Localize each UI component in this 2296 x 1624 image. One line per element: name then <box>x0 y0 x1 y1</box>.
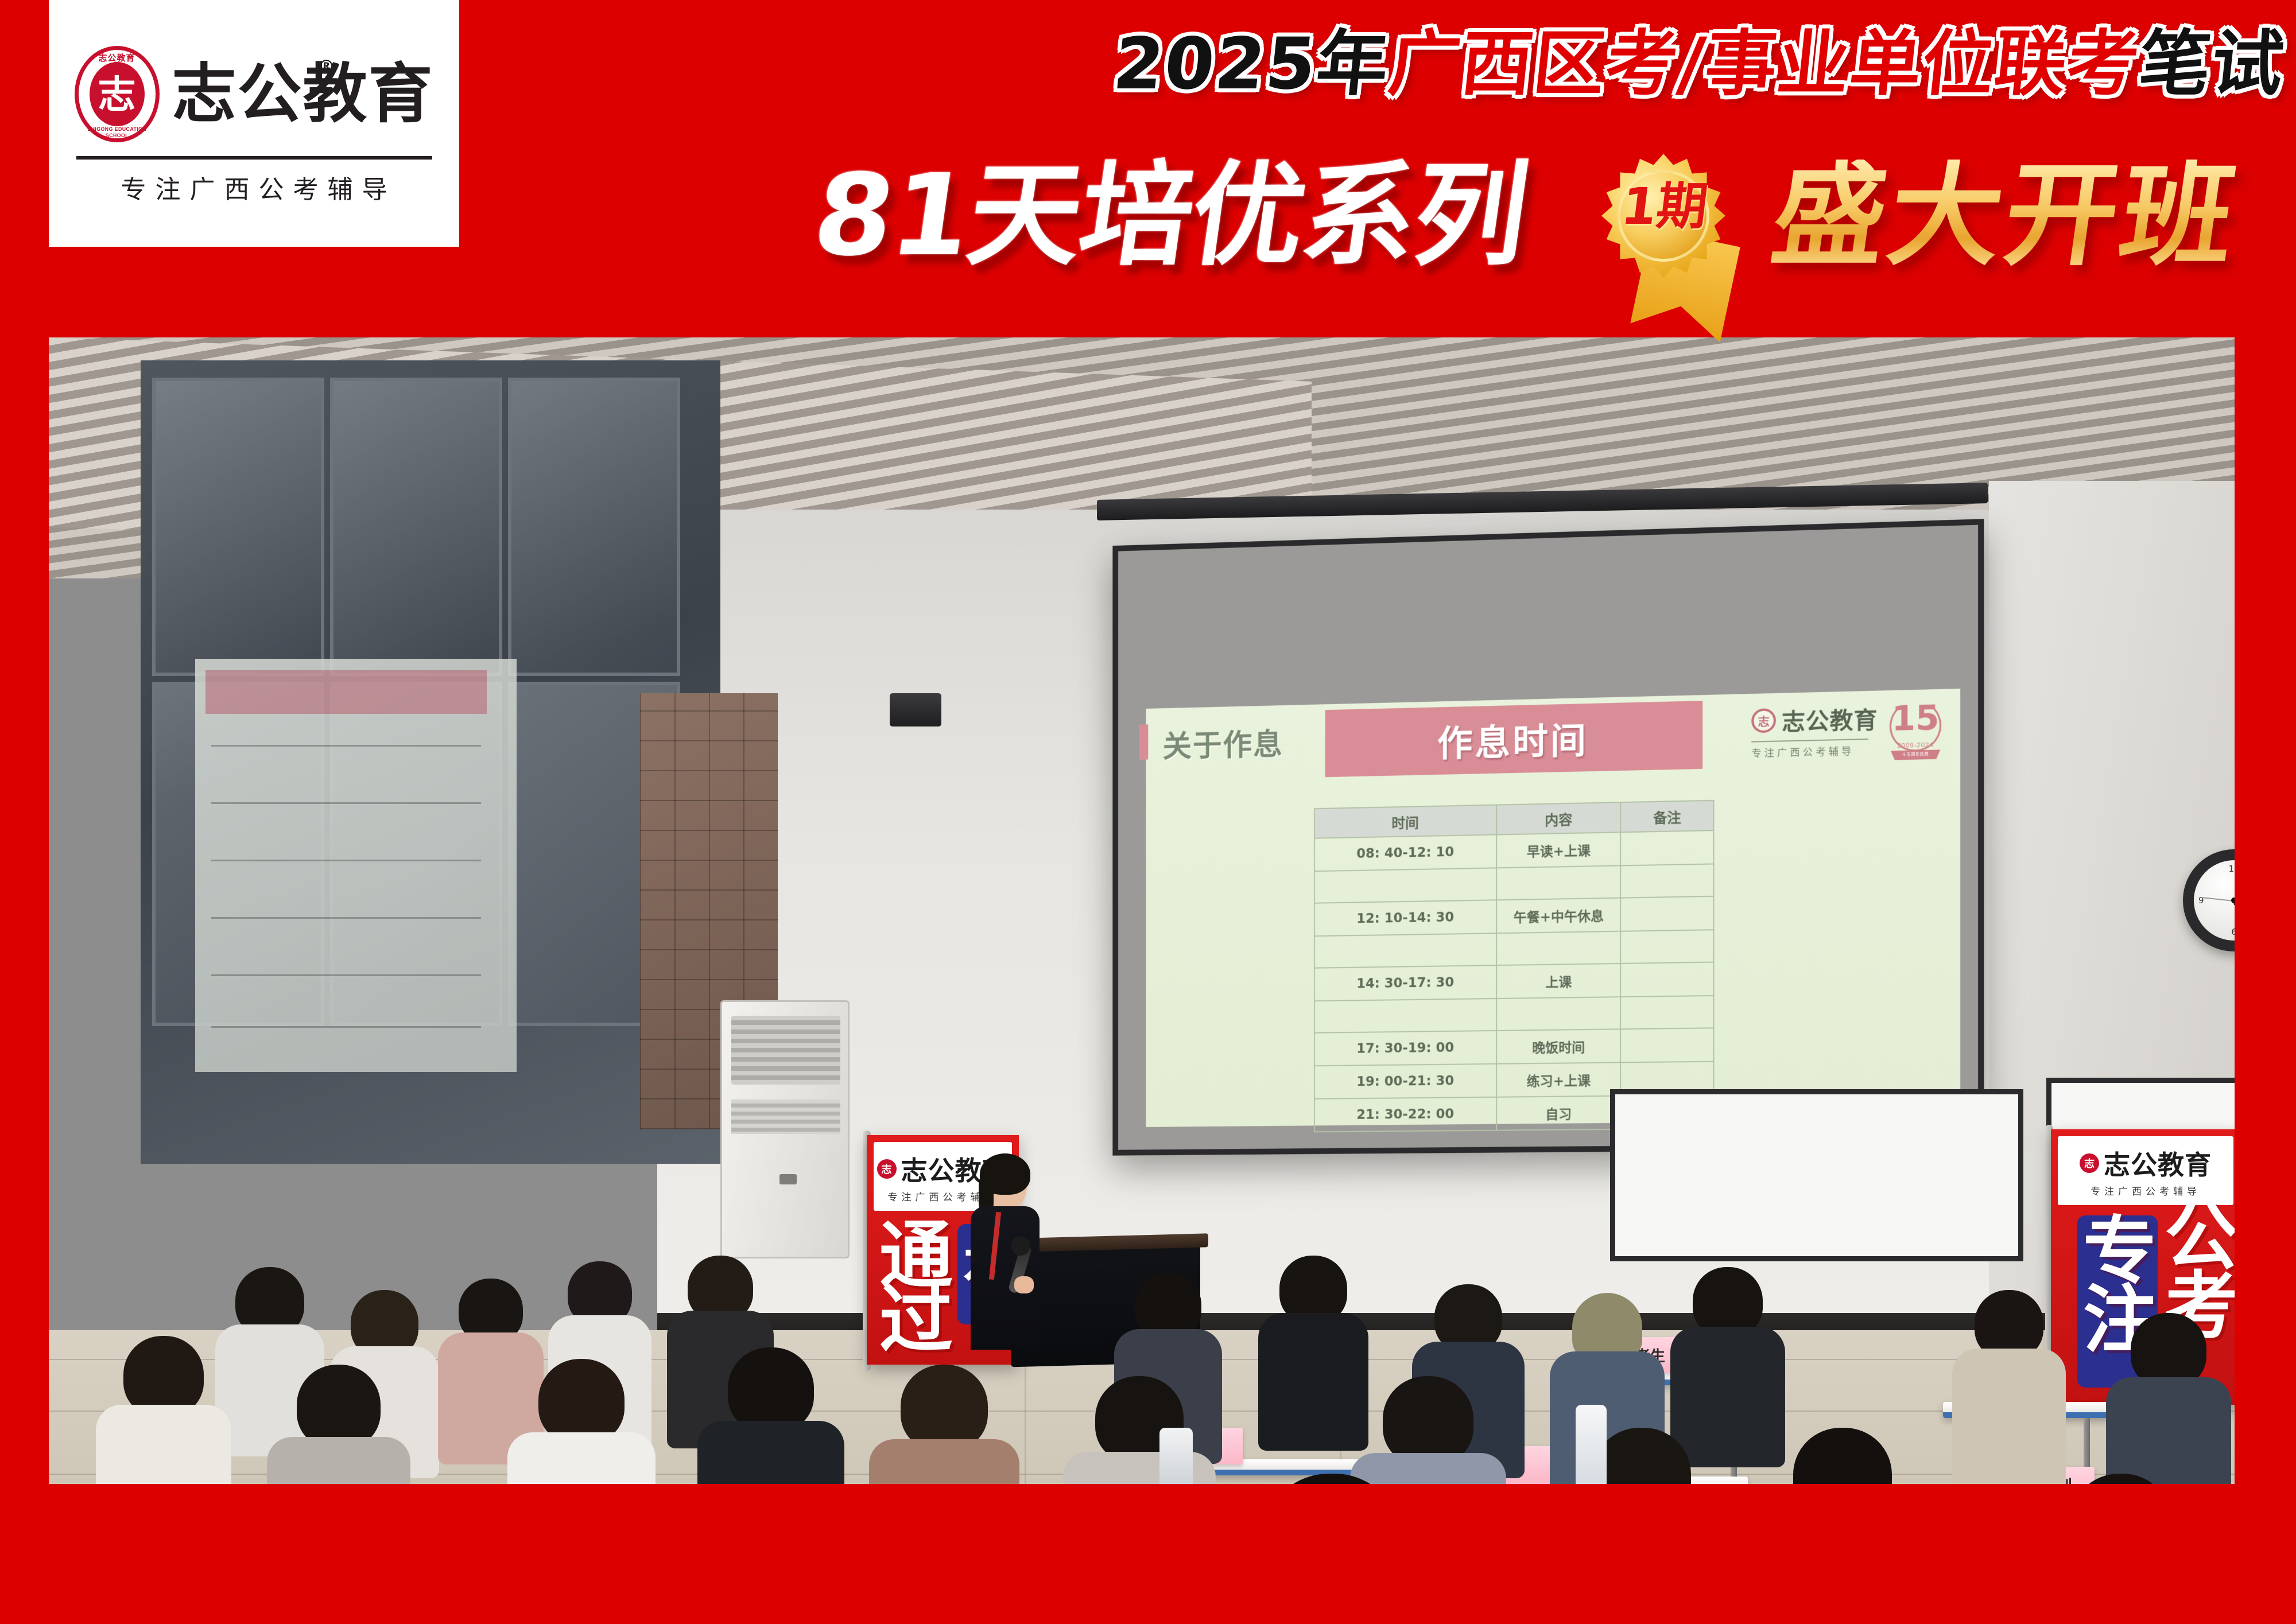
slide-logo-tagline: 专注广西公考辅导 <box>1751 743 1854 760</box>
logo-divider <box>76 156 432 160</box>
badge-label: 1期 <box>1610 181 1720 232</box>
headline-exam-name: 广西区考/事业单位联考 <box>1384 23 2143 106</box>
water-bottle <box>1576 1405 1607 1491</box>
cell-content: 自习 <box>1496 1096 1620 1130</box>
cell-time: 21: 30-22: 00 <box>1314 1097 1496 1132</box>
air-conditioner <box>720 1000 850 1258</box>
cell-content: 上课 <box>1496 963 1620 999</box>
cell-content: 练习+上课 <box>1496 1062 1620 1097</box>
banner-seal-icon: 志 <box>2080 1153 2099 1173</box>
glass-partition-wall <box>141 360 720 1164</box>
schedule-table: 时间 内容 备注 08: 40-12: 10 早读+上课 12: 10-14: … <box>1314 800 1714 1133</box>
cell-time: 12: 10-14: 30 <box>1314 900 1496 936</box>
col-header-time: 时间 <box>1314 805 1496 838</box>
photo-bottom-mask <box>49 1484 2235 1554</box>
logo-row: 志公教育 志 ZHIGONG EDUCATION SCHOOL 志公教育 ® <box>75 46 434 142</box>
registered-trademark-icon: ® <box>318 59 336 76</box>
instructor <box>966 1158 1041 1347</box>
headline-block: 2025年广西区考/事业单位联考笔试 <box>1108 26 2290 103</box>
banner-char-zhuan: 专 <box>2083 1217 2158 1287</box>
anniversary-ribbon-text: 十五周年庆典 <box>1891 749 1940 760</box>
slide-seal-icon: 志 <box>1751 708 1776 733</box>
anniversary-number: 15 <box>1887 701 1944 736</box>
banner-seal-icon: 志 <box>877 1159 897 1179</box>
cell-content: 午餐+中午休息 <box>1496 898 1620 934</box>
headline-year: 2025年 <box>1110 23 1393 106</box>
wall-speaker-icon <box>890 693 941 726</box>
slide-brand-logo: 志 志公教育 专注广西公考辅导 <box>1751 701 1878 760</box>
headline-course-name: 81天培优系列 <box>807 160 1534 272</box>
col-header-content: 内容 <box>1496 802 1620 834</box>
slide-title-banner: 作息时间 <box>1325 701 1703 777</box>
gold-rosette-badge-icon: 1期 <box>1590 150 1762 323</box>
cell-time: 17: 30-19: 00 <box>1314 1031 1496 1066</box>
projector-screen: 关于作息 作息时间 志 志公教育 专注广西公考辅导 15 2009-2024 十… <box>1112 519 1984 1155</box>
student <box>1960 1290 2058 1462</box>
table-spacer-row <box>1314 996 1713 1033</box>
logo-tagline: 专注广西公考辅导 <box>112 169 397 205</box>
cell-note <box>1621 830 1714 865</box>
slide-title-text: 作息时间 <box>1437 712 1588 767</box>
headline-line-1: 2025年广西区考/事业单位联考笔试 <box>1104 26 2294 103</box>
logo-wordmark-text: 志公教育 <box>172 57 434 131</box>
cell-content: 晚饭时间 <box>1496 1029 1620 1064</box>
cell-note <box>1621 896 1714 931</box>
student <box>1266 1256 1360 1428</box>
brand-logo-card: 志公教育 志 ZHIGONG EDUCATION SCHOOL 志公教育 ® 专… <box>49 0 459 247</box>
anniversary-years: 2009-2024 <box>1887 741 1944 749</box>
slide-accent-bar <box>1139 724 1149 759</box>
slide-kicker-text: 关于作息 <box>1163 720 1284 766</box>
headline-line-2: 81天培优系列 盛大开班 <box>804 154 2296 297</box>
anniversary-emblem-icon: 15 2009-2024 十五周年庆典 <box>1887 697 1944 763</box>
logo-wordmark: 志公教育 ® <box>172 62 434 126</box>
headline-opening-text: 盛大开班 <box>1766 160 2245 272</box>
banner-logo-wordmark: 志公教育 <box>2104 1144 2212 1182</box>
table-row: 12: 10-14: 30 午餐+中午休息 <box>1314 896 1713 936</box>
microphone-icon <box>1011 1236 1030 1256</box>
seal-arc-bottom-text: ZHIGONG EDUCATION SCHOOL <box>77 126 156 139</box>
presentation-slide: 关于作息 作息时间 志 志公教育 专注广西公考辅导 15 2009-2024 十… <box>1146 689 1960 1127</box>
table-row: 14: 30-17: 30 上课 <box>1314 962 1713 1001</box>
zhigong-seal-icon: 志公教育 志 ZHIGONG EDUCATION SCHOOL <box>75 46 160 142</box>
headline-written-test: 笔试 <box>2135 23 2289 106</box>
student <box>1679 1267 1777 1439</box>
cell-content: 早读+上课 <box>1496 832 1620 868</box>
cell-time: 14: 30-17: 30 <box>1314 965 1496 1001</box>
whiteboard <box>1610 1089 2023 1261</box>
cell-note <box>1621 1028 1714 1062</box>
col-header-note: 备注 <box>1621 801 1714 833</box>
slide-logo-wordmark: 志公教育 <box>1782 701 1878 737</box>
table-spacer-row <box>1314 930 1713 968</box>
table-row: 17: 30-19: 00 晚饭时间 <box>1314 1028 1713 1066</box>
classroom-photo: 关于作息 作息时间 志 志公教育 专注广西公考辅导 15 2009-2024 十… <box>49 337 2235 1554</box>
wall-notice-board <box>195 659 517 1072</box>
cell-time: 08: 40-12: 10 <box>1314 835 1496 872</box>
cell-time: 19: 00-21: 30 <box>1314 1064 1496 1099</box>
banner-char-gong: 公 <box>2165 1203 2235 1273</box>
cell-note <box>1621 962 1714 997</box>
banner-char-guo: 过 <box>879 1285 954 1356</box>
seal-center-char: 志 <box>75 76 160 114</box>
